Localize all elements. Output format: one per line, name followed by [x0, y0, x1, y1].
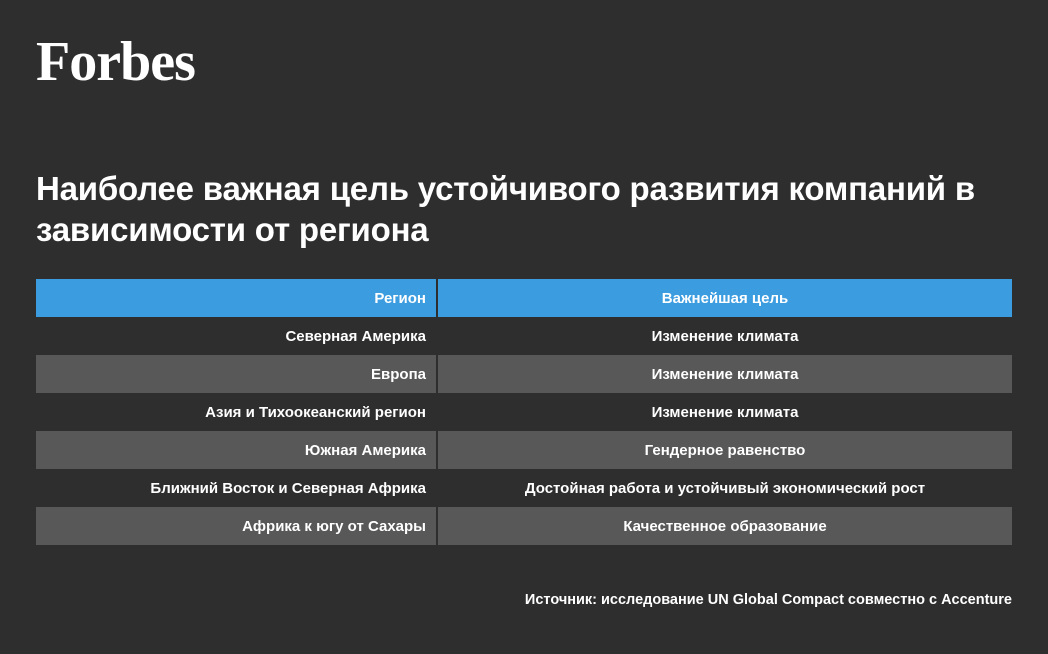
infographic-page: Forbes Наиболее важная цель устойчивого …: [0, 0, 1048, 654]
column-header-goal: Важнейшая цель: [437, 279, 1012, 317]
cell-region: Африка к югу от Сахары: [36, 507, 437, 545]
cell-goal: Качественное образование: [437, 507, 1012, 545]
cell-region: Южная Америка: [36, 431, 437, 469]
cell-goal: Гендерное равенство: [437, 431, 1012, 469]
table-row: Северная Америка Изменение климата: [36, 317, 1012, 355]
table-body: Северная Америка Изменение климата Европ…: [36, 317, 1012, 545]
page-title: Наиболее важная цель устойчивого развити…: [36, 168, 996, 250]
cell-region: Северная Америка: [36, 317, 437, 355]
cell-goal: Изменение климата: [437, 393, 1012, 431]
table-row: Африка к югу от Сахары Качественное обра…: [36, 507, 1012, 545]
source-attribution: Источник: исследование UN Global Compact…: [36, 592, 1012, 608]
cell-region: Азия и Тихоокеанский регион: [36, 393, 437, 431]
table-row: Азия и Тихоокеанский регион Изменение кл…: [36, 393, 1012, 431]
cell-region: Европа: [36, 355, 437, 393]
column-header-region: Регион: [36, 279, 437, 317]
forbes-logo: Forbes: [36, 33, 195, 91]
region-goal-table: Регион Важнейшая цель Северная Америка И…: [36, 279, 1012, 545]
table-row: Европа Изменение климата: [36, 355, 1012, 393]
table-header-row: Регион Важнейшая цель: [36, 279, 1012, 317]
table-row: Ближний Восток и Северная Африка Достойн…: [36, 469, 1012, 507]
data-table-container: Регион Важнейшая цель Северная Америка И…: [36, 279, 1012, 545]
cell-region: Ближний Восток и Северная Африка: [36, 469, 437, 507]
cell-goal: Изменение климата: [437, 317, 1012, 355]
cell-goal: Достойная работа и устойчивый экономичес…: [437, 469, 1012, 507]
table-row: Южная Америка Гендерное равенство: [36, 431, 1012, 469]
table-header: Регион Важнейшая цель: [36, 279, 1012, 317]
cell-goal: Изменение климата: [437, 355, 1012, 393]
